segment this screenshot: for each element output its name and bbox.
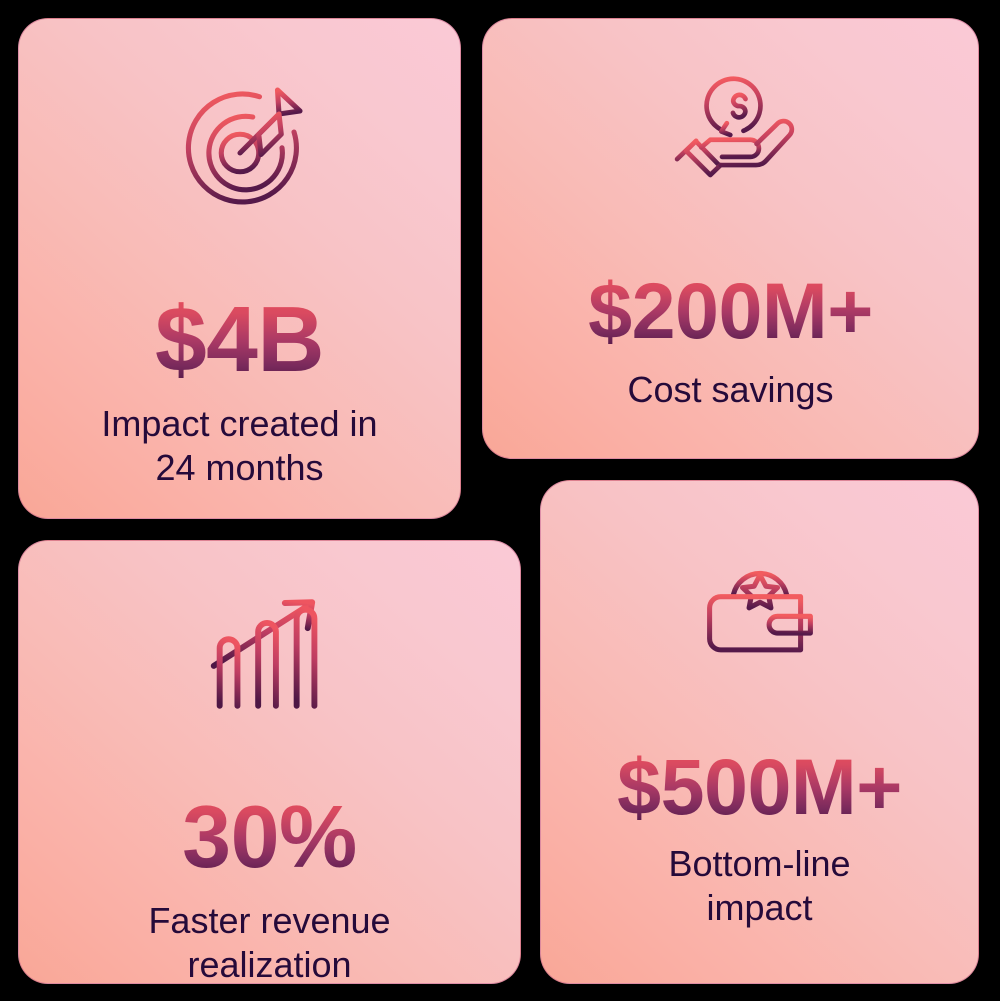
hand-holding-coin-icon (483, 67, 978, 207)
metric-card-cost-savings[interactable]: $200M+ Cost savings (482, 18, 979, 459)
metric-caption: Cost savings (627, 368, 833, 412)
metric-caption-line: Bottom-line (668, 842, 850, 886)
metric-caption-line: realization (148, 943, 390, 984)
growth-bar-chart-icon (19, 583, 520, 731)
metric-caption-line: impact (668, 886, 850, 930)
metric-caption-line: 24 months (101, 446, 377, 490)
metric-caption-line: Cost savings (627, 368, 833, 412)
wallet-star-coin-icon (541, 533, 978, 673)
metrics-card-grid: $4B Impact created in 24 months (0, 0, 1000, 1001)
metric-caption: Bottom-line impact (668, 842, 850, 930)
metric-caption: Faster revenue realization (148, 899, 390, 984)
metric-card-faster-revenue[interactable]: 30% Faster revenue realization (18, 540, 521, 984)
target-arrow-icon (19, 75, 460, 225)
metric-caption-line: Faster revenue (148, 899, 390, 943)
metric-card-bottom-line-impact[interactable]: $500M+ Bottom-line impact (540, 480, 979, 984)
metric-value: $200M+ (588, 271, 873, 350)
metric-value: $4B (155, 293, 324, 386)
metric-caption: Impact created in 24 months (101, 402, 377, 490)
metric-caption-line: Impact created in (101, 402, 377, 446)
metric-value: 30% (182, 793, 357, 881)
metric-card-impact-created[interactable]: $4B Impact created in 24 months (18, 18, 461, 519)
metric-value: $500M+ (617, 747, 902, 826)
